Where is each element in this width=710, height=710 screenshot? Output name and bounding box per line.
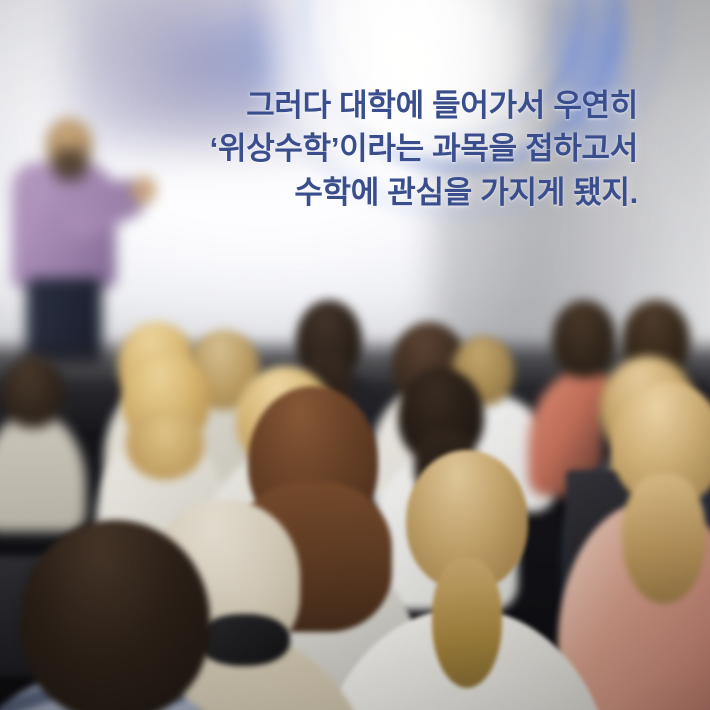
speaker-legs [26, 278, 102, 364]
quote-line-1: 그러다 대학에 들어가서 우연히 [78, 84, 638, 127]
quote-text: 그러다 대학에 들어가서 우연히 ‘위상수학’이라는 과목을 접하고서 수학에 … [78, 84, 638, 214]
quote-card: 그러다 대학에 들어가서 우연히 ‘위상수학’이라는 과목을 접하고서 수학에 … [0, 0, 710, 710]
quote-line-2: ‘위상수학’이라는 과목을 접하고서 [78, 127, 638, 170]
projection-arc-4 [408, 0, 504, 50]
quote-line-3: 수학에 관심을 가지게 됐지. [78, 171, 638, 214]
